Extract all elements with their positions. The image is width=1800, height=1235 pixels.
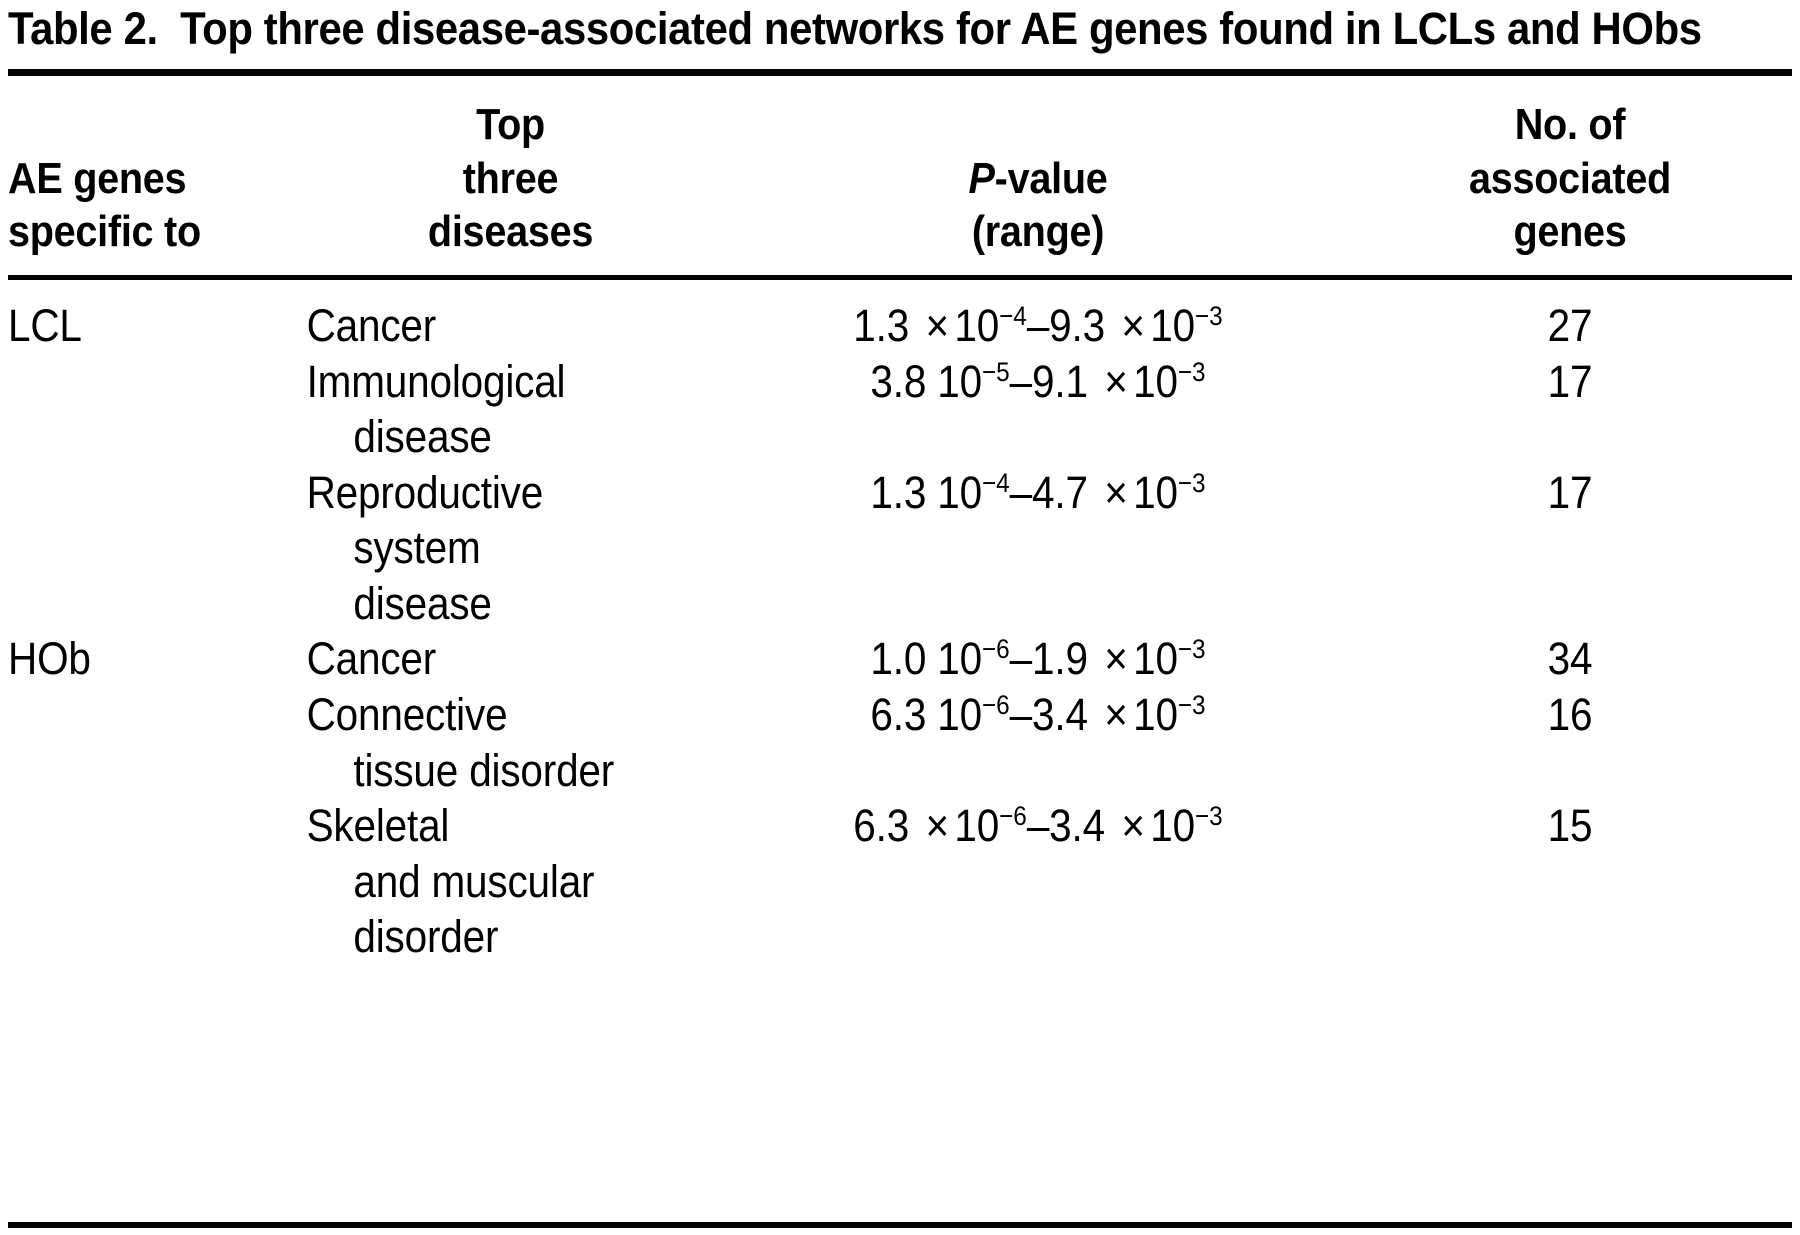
- column-header-count-line-3: genes: [1513, 207, 1626, 256]
- pvalue-base-low: 10: [954, 300, 999, 351]
- cell-disease-line: disease: [307, 409, 677, 465]
- column-header-disease-line-2: three: [463, 154, 558, 203]
- table-row: Skeletaland musculardisorder6.3 ×10−6–3.…: [8, 798, 1792, 965]
- table-header-row: AE genes specific to Top three diseases …: [8, 76, 1792, 275]
- column-header-pvalue-line-2: (range): [972, 207, 1104, 256]
- cell-group: HOb: [8, 631, 274, 687]
- pvalue-exponent-high: −3: [1178, 357, 1206, 387]
- cell-disease: Skeletaland musculardisorder: [303, 798, 677, 965]
- table-body: LCLCancer1.3 ×10−4–9.3 ×10−327Immunologi…: [8, 280, 1792, 965]
- cell-disease: Reproductivesystemdisease: [303, 465, 677, 632]
- pvalue-exponent-low: −6: [999, 801, 1027, 831]
- column-header-disease-line-1: Top: [476, 100, 545, 149]
- column-header-group: AE genes specific to: [8, 152, 274, 259]
- column-header-count-line-2: associated: [1469, 154, 1671, 203]
- table-caption: Table 2.Top three disease-associated net…: [8, 0, 1783, 55]
- pvalue-base-low: 10: [954, 800, 999, 851]
- table-caption-text: Top three disease-associated networks fo…: [180, 3, 1702, 54]
- pvalue-mantissa-low: 6.3: [870, 689, 926, 740]
- pvalue-exponent-low: −4: [999, 301, 1027, 331]
- cell-gene-count: 17: [1379, 465, 1761, 521]
- multiplication-sign: ×: [1116, 800, 1150, 851]
- cell-disease-line: tissue disorder: [307, 743, 677, 799]
- pvalue-exponent-low: −6: [982, 690, 1010, 720]
- cell-disease-line: Cancer: [307, 633, 436, 684]
- pvalue-base-low: 10: [937, 633, 982, 684]
- cell-gene-count: 17: [1379, 354, 1761, 410]
- column-header-disease-line-3: diseases: [428, 207, 593, 256]
- cell-pvalue: 3.8 10−5–9.1 ×10−3: [750, 354, 1326, 410]
- cell-disease: Immunologicaldisease: [303, 354, 677, 465]
- cell-gene-count: 15: [1379, 798, 1761, 854]
- pvalue-exponent-low: −5: [982, 357, 1010, 387]
- multiplication-sign: ×: [920, 300, 954, 351]
- pvalue-mantissa-high: 3.4: [1032, 689, 1088, 740]
- range-dash: –: [1027, 800, 1049, 851]
- cell-disease-line: system: [307, 520, 677, 576]
- pvalue-exponent-high: −3: [1178, 634, 1206, 664]
- cell-disease-line: Reproductive: [307, 467, 543, 518]
- column-header-pvalue: P-value (range): [750, 152, 1326, 259]
- pvalue-exponent-high: −3: [1178, 468, 1206, 498]
- range-dash: –: [1010, 689, 1032, 740]
- pvalue-exponent-high: −3: [1178, 690, 1206, 720]
- column-header-disease: Top three diseases: [324, 98, 698, 259]
- pvalue-base-high: 10: [1133, 356, 1178, 407]
- pvalue-base-high: 10: [1133, 467, 1178, 518]
- range-dash: –: [1010, 356, 1032, 407]
- cell-pvalue: 1.0 10−6–1.9 ×10−3: [750, 631, 1326, 687]
- pvalue-mantissa-high: 1.9: [1032, 633, 1088, 684]
- column-header-pvalue-italic-p: P: [969, 154, 995, 203]
- pvalue-mantissa-low: 1.3: [870, 467, 926, 518]
- cell-disease-line: Immunological: [307, 356, 566, 407]
- cell-group: LCL: [8, 298, 274, 354]
- table-row: Immunologicaldisease3.8 10−5–9.1 ×10−317: [8, 354, 1792, 465]
- column-header-pvalue-line-1: -value: [995, 154, 1108, 203]
- multiplication-sign: ×: [1116, 300, 1150, 351]
- pvalue-base-low: 10: [937, 356, 982, 407]
- column-header-group-line-1: AE genes: [8, 154, 186, 203]
- cell-disease-line: Cancer: [307, 300, 436, 351]
- cell-gene-count: 34: [1379, 631, 1761, 687]
- range-dash: –: [1010, 633, 1032, 684]
- pvalue-mantissa-high: 3.4: [1049, 800, 1105, 851]
- column-header-count: No. of associated genes: [1379, 98, 1761, 259]
- range-dash: –: [1010, 467, 1032, 518]
- column-header-group-line-2: specific to: [8, 207, 201, 256]
- cell-pvalue: 6.3 10−6–3.4 ×10−3: [750, 687, 1326, 743]
- pvalue-mantissa-low: 3.8: [870, 356, 926, 407]
- range-dash: –: [1027, 300, 1049, 351]
- pvalue-base-low: 10: [937, 467, 982, 518]
- multiplication-sign: ×: [1099, 356, 1133, 407]
- cell-pvalue: 1.3 ×10−4–9.3 ×10−3: [750, 298, 1326, 354]
- pvalue-base-high: 10: [1133, 689, 1178, 740]
- table-row: HObCancer1.0 10−6–1.9 ×10−334: [8, 631, 1792, 687]
- pvalue-base-low: 10: [937, 689, 982, 740]
- table-row: LCLCancer1.3 ×10−4–9.3 ×10−327: [8, 298, 1792, 354]
- column-header-count-line-1: No. of: [1515, 100, 1626, 149]
- pvalue-mantissa-high: 4.7: [1032, 467, 1088, 518]
- table-row: Reproductivesystemdisease1.3 10−4–4.7 ×1…: [8, 465, 1792, 632]
- cell-pvalue: 6.3 ×10−6–3.4 ×10−3: [750, 798, 1326, 854]
- table-number-label: Table 2.: [8, 3, 158, 54]
- cell-gene-count: 16: [1379, 687, 1761, 743]
- pvalue-mantissa-low: 6.3: [853, 800, 909, 851]
- pvalue-base-high: 10: [1150, 800, 1195, 851]
- pvalue-mantissa-high: 9.1: [1032, 356, 1088, 407]
- pvalue-base-high: 10: [1150, 300, 1195, 351]
- pvalue-mantissa-high: 9.3: [1049, 300, 1105, 351]
- pvalue-mantissa-low: 1.3: [853, 300, 909, 351]
- pvalue-mantissa-low: 1.0: [870, 633, 926, 684]
- table-row: Connectivetissue disorder6.3 10−6–3.4 ×1…: [8, 687, 1792, 798]
- cell-pvalue: 1.3 10−4–4.7 ×10−3: [750, 465, 1326, 521]
- pvalue-exponent-high: −3: [1195, 301, 1223, 331]
- pvalue-base-high: 10: [1133, 633, 1178, 684]
- multiplication-sign: ×: [920, 800, 954, 851]
- cell-disease-line: and muscular: [307, 854, 677, 910]
- multiplication-sign: ×: [1099, 689, 1133, 740]
- pvalue-exponent-low: −4: [982, 468, 1010, 498]
- multiplication-sign: ×: [1099, 633, 1133, 684]
- cell-disease-line: Skeletal: [307, 800, 450, 851]
- pvalue-exponent-high: −3: [1195, 801, 1223, 831]
- multiplication-sign: ×: [1099, 467, 1133, 518]
- cell-disease: Connectivetissue disorder: [303, 687, 677, 798]
- pvalue-exponent-low: −6: [982, 634, 1010, 664]
- cell-disease: Cancer: [303, 631, 677, 687]
- cell-disease-line: disease: [307, 576, 677, 632]
- cell-gene-count: 27: [1379, 298, 1761, 354]
- rule-bottom: [8, 1222, 1792, 1228]
- cell-disease: Cancer: [303, 298, 677, 354]
- table-container: Table 2.Top three disease-associated net…: [0, 0, 1800, 1235]
- rule-top: [8, 69, 1792, 76]
- cell-disease-line: Connective: [307, 689, 508, 740]
- cell-disease-line: disorder: [307, 909, 677, 965]
